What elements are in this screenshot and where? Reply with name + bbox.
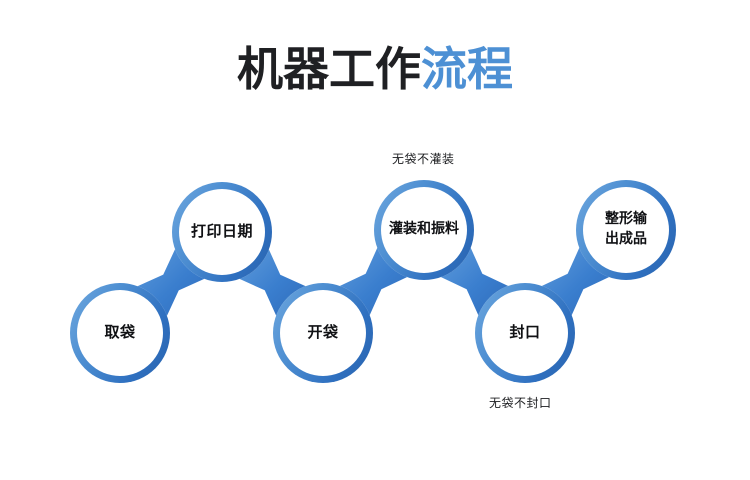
node-label-shape-output: 整形输出成品 [584, 210, 668, 250]
node-label-print-date: 打印日期 [180, 221, 264, 242]
page-title: 机器工作流程 [0, 46, 750, 92]
node-label-line: 打印日期 [180, 221, 264, 242]
node-label-line: 出成品 [584, 230, 668, 250]
annotation-no-bag-no-fill: 无袋不灌装 [392, 150, 455, 167]
node-label-fill-vibrate: 灌装和振料 [382, 220, 466, 240]
page-title-dark-part: 机器工作 [237, 42, 421, 96]
node-label-line: 封口 [483, 322, 567, 343]
node-label-line: 灌装和振料 [382, 220, 466, 240]
flow-diagram: 机器工作流程 取袋打印日期开袋灌装和振料封口整形输出成品 无袋不灌装无袋不封口 [0, 0, 750, 480]
flow-node-print-date[interactable]: 打印日期 [172, 182, 272, 282]
node-label-seal: 封口 [483, 322, 567, 343]
flow-node-open-bag[interactable]: 开袋 [273, 283, 373, 383]
node-label-take-bag: 取袋 [78, 322, 162, 343]
node-label-line: 整形输 [584, 210, 668, 230]
flow-node-fill-vibrate[interactable]: 灌装和振料 [374, 180, 474, 280]
flow-node-take-bag[interactable]: 取袋 [70, 283, 170, 383]
node-label-line: 取袋 [78, 322, 162, 343]
page-title-accent-part: 流程 [421, 42, 513, 96]
flow-node-shape-output[interactable]: 整形输出成品 [576, 180, 676, 280]
node-label-line: 开袋 [281, 322, 365, 343]
flow-node-seal[interactable]: 封口 [475, 283, 575, 383]
annotation-no-bag-no-seal: 无袋不封口 [489, 394, 552, 411]
node-label-open-bag: 开袋 [281, 322, 365, 343]
